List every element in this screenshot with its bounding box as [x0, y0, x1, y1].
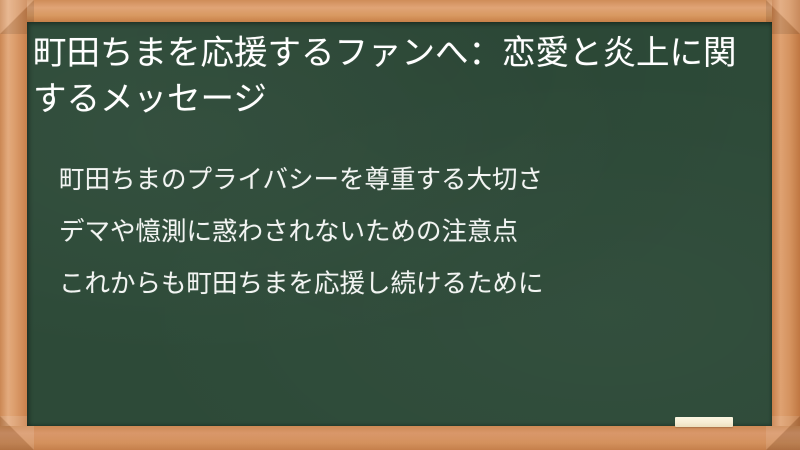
list-item: これからも町田ちまを応援し続けるために: [59, 258, 749, 310]
bullet-list: 町田ちまのプライバシーを尊重する大切さ デマや憶測に惑わされないための注意点 こ…: [59, 154, 749, 310]
frame-left-rail: [0, 0, 27, 450]
frame-bottom-ledge: [0, 426, 800, 450]
list-item: 町田ちまのプライバシーを尊重する大切さ: [59, 154, 749, 206]
chalk-stick: [675, 417, 733, 427]
list-item: デマや憶測に惑わされないための注意点: [59, 206, 749, 258]
chalkboard-slide: 町田ちまを応援するファンへ：恋愛と炎上に関するメッセージ 町田ちまのプライバシー…: [0, 0, 800, 450]
frame-top-rail: [0, 0, 800, 22]
slide-title: 町田ちまを応援するファンへ：恋愛と炎上に関するメッセージ: [33, 30, 753, 122]
frame-right-rail: [772, 0, 800, 450]
chalkboard-surface: 町田ちまを応援するファンへ：恋愛と炎上に関するメッセージ 町田ちまのプライバシー…: [27, 22, 772, 426]
